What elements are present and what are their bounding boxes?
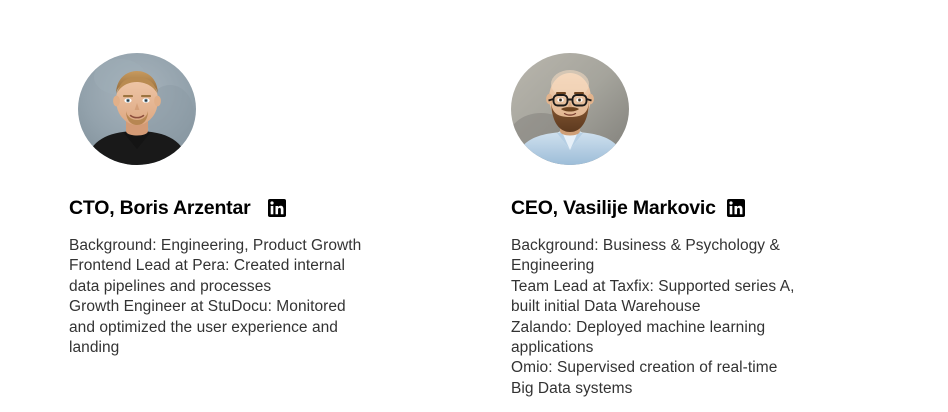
profile-name: CEO, Vasilije Markovic <box>511 196 716 220</box>
bio-line: Background: Business & Psychology & <box>511 236 794 256</box>
bio-line: Zalando: Deployed machine learning <box>511 318 794 338</box>
bio-line: built initial Data Warehouse <box>511 297 794 317</box>
bio-line: Team Lead at Taxfix: Supported series A, <box>511 277 794 297</box>
bio-line: Background: Engineering, Product Growth <box>69 236 361 256</box>
bio-line: Omio: Supervised creation of real-time <box>511 358 794 378</box>
bio-line: data pipelines and processes <box>69 277 361 297</box>
linkedin-icon[interactable] <box>268 199 286 217</box>
team-profiles-slide: CTO, Boris Arzentar Background: Engineer… <box>0 0 948 412</box>
bio-line: and optimized the user experience and <box>69 318 361 338</box>
avatar-vasilije-markovic <box>511 53 629 165</box>
profile-name: CTO, Boris Arzentar <box>69 196 251 220</box>
bio-line: Engineering <box>511 256 794 276</box>
profile-bio-ceo: Background: Business & Psychology & Engi… <box>511 236 794 399</box>
profile-heading-cto: CTO, Boris Arzentar <box>69 196 286 220</box>
avatar-boris-arzentar <box>78 53 196 165</box>
bio-line: Big Data systems <box>511 379 794 399</box>
bio-line: Growth Engineer at StuDocu: Monitored <box>69 297 361 317</box>
bio-line: Frontend Lead at Pera: Created internal <box>69 256 361 276</box>
profile-heading-ceo: CEO, Vasilije Markovic <box>511 196 745 220</box>
linkedin-icon[interactable] <box>727 199 745 217</box>
profile-bio-cto: Background: Engineering, Product Growth … <box>69 236 361 358</box>
bio-line: landing <box>69 338 361 358</box>
bio-line: applications <box>511 338 794 358</box>
